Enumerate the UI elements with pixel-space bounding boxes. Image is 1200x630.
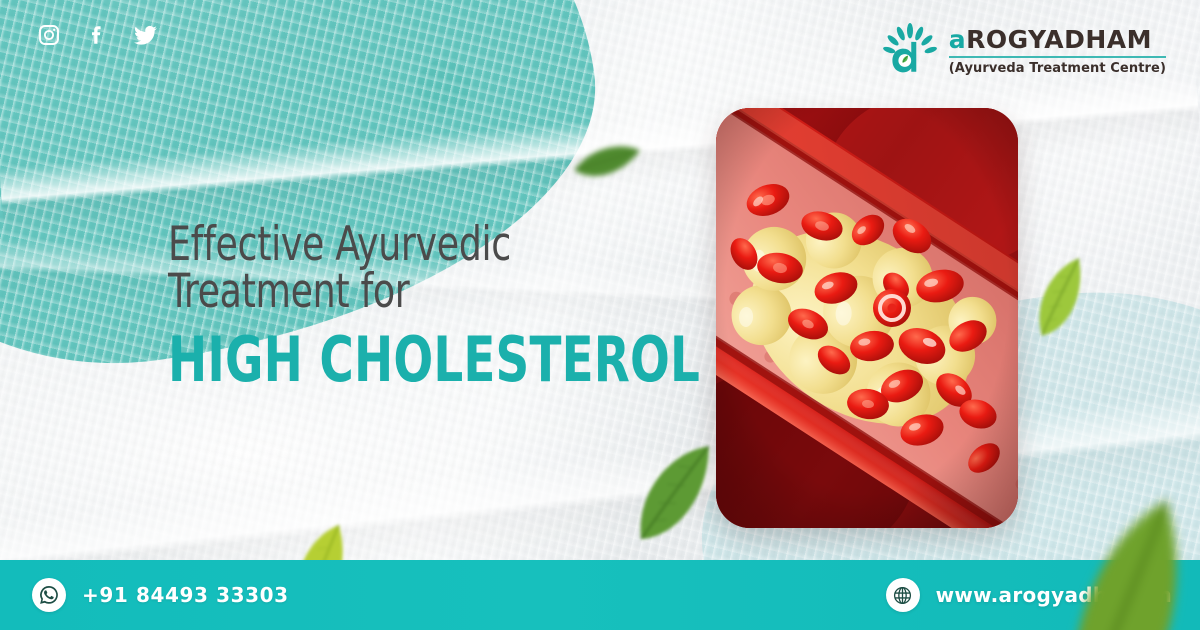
whatsapp-icon[interactable] [32,578,66,612]
social-links [36,22,158,48]
phone-number[interactable]: +91 84493 33303 [82,583,289,607]
promo-banner: aROGYADHAM (Ayurveda Treatment Centre) E… [0,0,1200,630]
brand-divider [949,56,1166,58]
headline-line-1: Effective Ayurvedic [168,222,713,269]
headline-block: Effective Ayurvedic Treatment for HIGH C… [168,222,801,392]
brand-logo[interactable]: aROGYADHAM (Ayurveda Treatment Centre) [881,22,1166,80]
instagram-icon[interactable] [36,22,62,48]
leafy-letter-a-mark-icon [881,22,939,80]
brand-tagline: (Ayurveda Treatment Centre) [949,61,1166,76]
brand-name: aROGYADHAM [949,27,1166,52]
brand-wordmark: aROGYADHAM (Ayurveda Treatment Centre) [949,27,1166,76]
brand-lead-letter: a [949,25,966,54]
facebook-icon[interactable] [84,22,110,48]
brand-rest: ROGYADHAM [966,25,1152,54]
teal-dot [417,60,471,114]
headline-line-2: Treatment for [168,269,713,316]
globe-icon[interactable] [886,578,920,612]
headline-emphasis: HIGH CHOLESTEROL [168,327,700,392]
phone-contact[interactable]: +91 84493 33303 [32,578,289,612]
twitter-icon[interactable] [132,22,158,48]
